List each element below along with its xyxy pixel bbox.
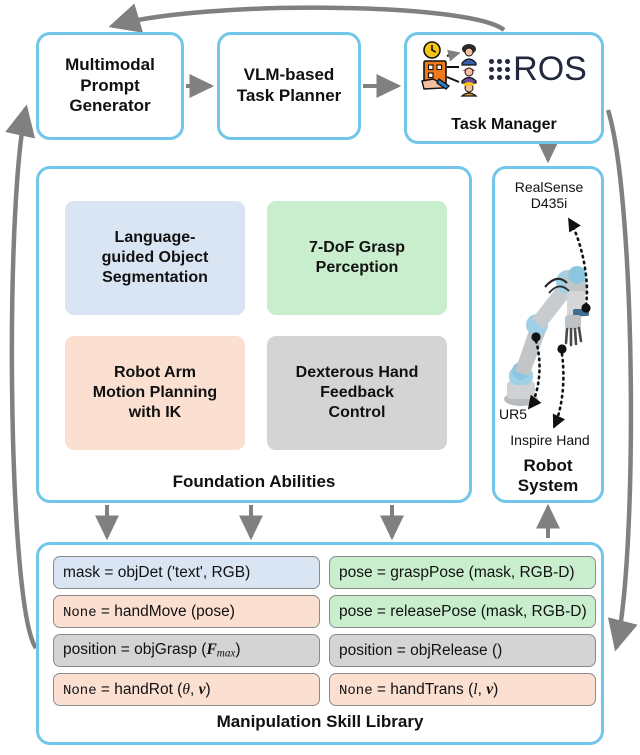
skill-handrot[interactable]: None = handRot (θ, v) bbox=[53, 673, 320, 706]
foundation-abilities-caption: Foundation Abilities bbox=[39, 472, 469, 492]
foundation-ability-label: Dexterous Hand Feedback Control bbox=[296, 363, 419, 422]
manipulation-skill-library-caption: Manipulation Skill Library bbox=[39, 712, 601, 732]
skill-grasppose[interactable]: pose = graspPose (mask, RGB-D) bbox=[329, 556, 596, 589]
ros-dot-grid-icon bbox=[489, 59, 510, 80]
vlm-based-task-planner-label: VLM-based Task Planner bbox=[237, 65, 342, 106]
ability-dexterous-hand-feedback-control[interactable]: Dexterous Hand Feedback Control bbox=[267, 336, 447, 450]
robot-system-caption: Robot System bbox=[495, 456, 601, 496]
task-manager-box[interactable]: ROS Task Manager bbox=[404, 32, 604, 144]
arrow-skills-to-prompt-feedback bbox=[12, 108, 36, 648]
skill-signature: mask = objDet ('text', RGB) bbox=[63, 564, 250, 582]
foundation-ability-label: Language- guided Object Segmentation bbox=[102, 228, 209, 287]
architecture-diagram: Multimodal Prompt Generator VLM-based Ta… bbox=[0, 0, 640, 755]
ability-7dof-grasp-perception[interactable]: 7-DoF Grasp Perception bbox=[267, 201, 447, 315]
skill-signature: None = handTrans (l, v) bbox=[339, 681, 498, 699]
skill-handmove[interactable]: None = handMove (pose) bbox=[53, 595, 320, 628]
arrow-manager-to-skills bbox=[608, 110, 631, 648]
foundation-abilities-panel: Language- guided Object Segmentation7-Do… bbox=[36, 166, 472, 503]
skill-releasepose[interactable]: pose = releasePose (mask, RGB-D) bbox=[329, 595, 596, 628]
multimodal-prompt-generator-box[interactable]: Multimodal Prompt Generator bbox=[36, 32, 184, 140]
ability-robot-arm-motion-planning-with-ik[interactable]: Robot Arm Motion Planning with IK bbox=[65, 336, 245, 450]
ros-logo-text: ROS bbox=[513, 52, 587, 86]
skill-signature: pose = releasePose (mask, RGB-D) bbox=[339, 603, 587, 621]
robot-system-panel: RealSense D435i UR5 Inspire Hand bbox=[492, 166, 604, 503]
skill-handtrans[interactable]: None = handTrans (l, v) bbox=[329, 673, 596, 706]
task-manager-label: Task Manager bbox=[407, 116, 601, 134]
foundation-ability-label: Robot Arm Motion Planning with IK bbox=[93, 363, 217, 422]
task-manager-icons: ROS bbox=[407, 41, 601, 97]
ros-logo-icon: ROS bbox=[489, 52, 587, 86]
skill-signature: pose = graspPose (mask, RGB-D) bbox=[339, 564, 575, 582]
skill-signature: position = objGrasp (Fmax) bbox=[63, 641, 241, 659]
skill-objgrasp[interactable]: position = objGrasp (Fmax) bbox=[53, 634, 320, 667]
task-delegation-icon bbox=[421, 41, 481, 97]
skill-grid: mask = objDet ('text', RGB)pose = graspP… bbox=[53, 556, 596, 706]
skill-signature: position = objRelease () bbox=[339, 642, 502, 660]
foundation-abilities-grid: Language- guided Object Segmentation7-Do… bbox=[65, 201, 447, 450]
arrow-manager-to-prompt-feedback bbox=[112, 8, 504, 30]
manipulation-skill-library-panel: mask = objDet ('text', RGB)pose = graspP… bbox=[36, 542, 604, 745]
skill-objrelease[interactable]: position = objRelease () bbox=[329, 634, 596, 667]
skill-signature: None = handMove (pose) bbox=[63, 603, 235, 621]
skill-objdet[interactable]: mask = objDet ('text', RGB) bbox=[53, 556, 320, 589]
vlm-based-task-planner-box[interactable]: VLM-based Task Planner bbox=[217, 32, 361, 140]
skill-signature: None = handRot (θ, v) bbox=[63, 681, 211, 699]
ability-language-guided-object-segmentation[interactable]: Language- guided Object Segmentation bbox=[65, 201, 245, 315]
foundation-ability-label: 7-DoF Grasp Perception bbox=[309, 238, 405, 278]
multimodal-prompt-generator-label: Multimodal Prompt Generator bbox=[65, 55, 155, 117]
